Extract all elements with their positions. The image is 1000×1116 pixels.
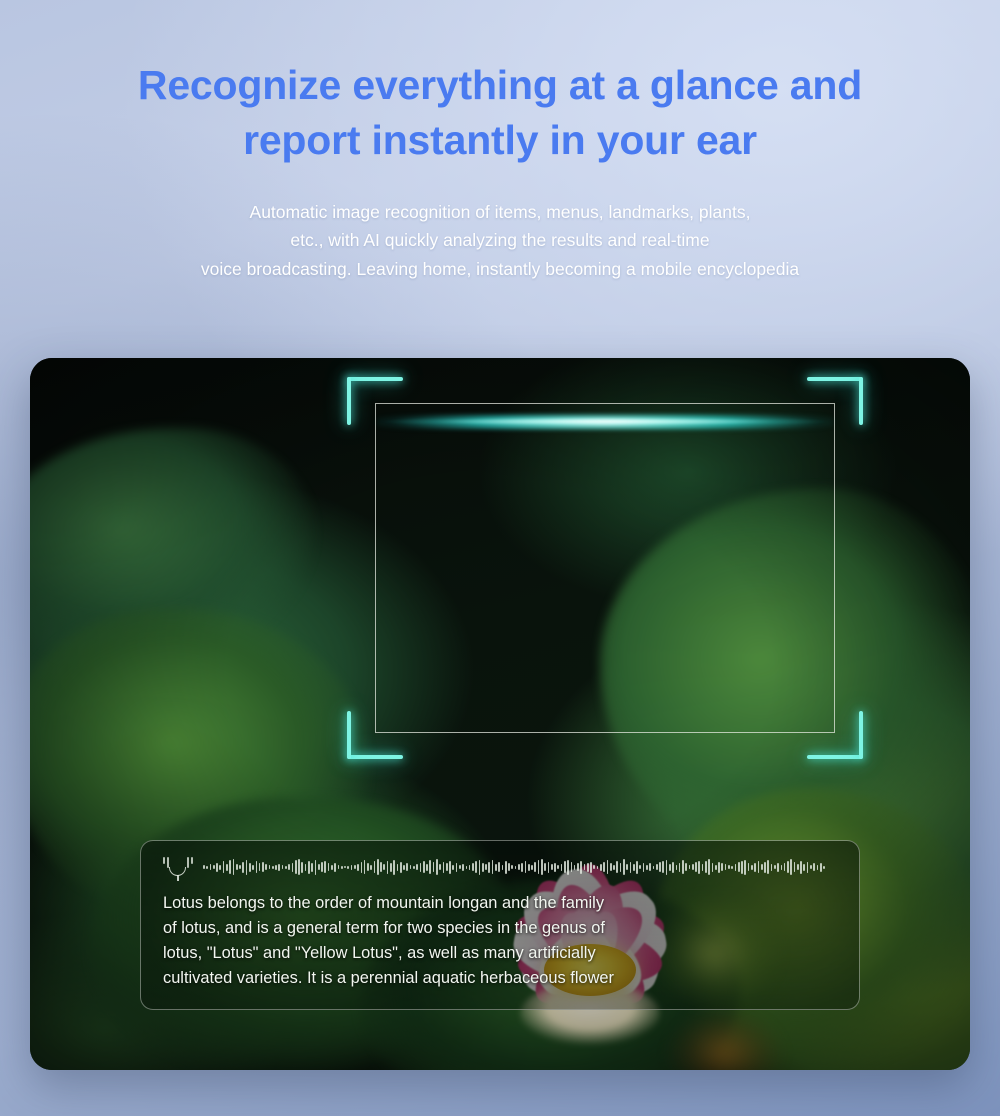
waveform-bar	[285, 866, 287, 869]
waveform-bar	[715, 865, 717, 870]
waveform-bar	[324, 861, 326, 873]
waveform-bar	[685, 863, 687, 871]
waveform-bar	[321, 862, 323, 872]
waveform-bar	[259, 863, 261, 871]
waveform-bar	[226, 864, 228, 871]
waveform-bar	[423, 861, 425, 873]
waveform-bar	[377, 859, 379, 875]
subtitle-line-3: voice broadcasting. Leaving home, instan…	[0, 255, 1000, 283]
waveform-bar	[331, 865, 333, 870]
waveform-bar	[679, 863, 681, 872]
waveform-bar	[288, 864, 290, 870]
waveform-bar	[383, 864, 385, 870]
waveform-bar	[347, 866, 349, 869]
waveform-bar	[669, 864, 671, 871]
scan-corner-bottom-right-icon	[807, 711, 863, 759]
headline-line-2: report instantly in your ear	[0, 113, 1000, 168]
waveform-bar	[803, 864, 805, 871]
waveform-bar	[807, 862, 809, 873]
waveform-bar	[659, 862, 661, 872]
waveform-bar	[744, 860, 746, 875]
waveform-bar	[495, 864, 497, 871]
microphone-icon	[163, 853, 193, 881]
waveform-bar	[587, 863, 589, 872]
waveform-bar	[456, 863, 458, 872]
waveform-bar	[695, 862, 697, 872]
waveform-bar	[344, 866, 346, 868]
waveform-bar	[301, 862, 303, 873]
waveform-bar	[400, 862, 402, 873]
waveform-bar	[810, 865, 812, 869]
waveform-bar	[475, 861, 477, 873]
waveform-bar	[738, 862, 740, 872]
waveform-bar	[758, 861, 760, 873]
waveform-bar	[794, 862, 796, 872]
waveform-bar	[580, 861, 582, 874]
scan-corner-top-left-icon	[347, 377, 403, 425]
waveform-bar	[718, 862, 720, 873]
waveform-bar	[626, 864, 628, 870]
waveform-bar	[682, 860, 684, 874]
waveform-bar	[774, 865, 776, 869]
waveform-bar	[403, 865, 405, 870]
waveform-bar	[643, 863, 645, 872]
waveform-bar	[469, 865, 471, 870]
waveform-bar	[784, 863, 786, 871]
waveform-bar	[420, 863, 422, 872]
recognition-preview-card: Lotus belongs to the order of mountain l…	[30, 358, 970, 1070]
waveform-bar	[616, 861, 618, 873]
waveform-bar	[820, 863, 822, 872]
waveform-bar	[433, 862, 435, 872]
subtitle-line-1: Automatic image recognition of items, me…	[0, 198, 1000, 226]
waveform-bar	[639, 865, 641, 869]
waveform-bar	[233, 859, 235, 875]
waveform-bar	[223, 861, 225, 873]
waveform-bar	[315, 860, 317, 875]
voice-activity-row	[163, 852, 841, 882]
page-title: Recognize everything at a glance and rep…	[0, 58, 1000, 167]
waveform-bar	[206, 866, 208, 869]
waveform-bar	[367, 863, 369, 871]
waveform-bar	[236, 864, 238, 870]
waveform-bar	[508, 863, 510, 871]
waveform-bar	[436, 859, 438, 875]
recognition-caption: Lotus belongs to the order of mountain l…	[163, 891, 841, 991]
waveform-bar	[676, 865, 678, 870]
waveform-bar	[662, 861, 664, 873]
waveform-bar	[318, 864, 320, 870]
waveform-bar	[242, 862, 244, 873]
waveform-bar	[754, 863, 756, 872]
waveform-bar	[416, 864, 418, 870]
waveform-bar	[252, 865, 254, 870]
headline-line-1: Recognize everything at a glance and	[138, 62, 862, 108]
waveform-bar	[666, 860, 668, 875]
waveform-bar	[239, 865, 241, 869]
waveform-bar	[653, 866, 655, 869]
waveform-bar	[692, 864, 694, 870]
waveform-bar	[505, 861, 507, 874]
waveform-bar	[751, 865, 753, 870]
waveform-bar	[574, 865, 576, 870]
waveform-bar	[541, 859, 543, 875]
waveform-bar	[482, 863, 484, 872]
audio-waveform	[203, 854, 841, 880]
waveform-bar	[630, 862, 632, 873]
scan-corner-top-right-icon	[807, 377, 863, 425]
waveform-bar	[564, 861, 566, 873]
waveform-bar	[518, 864, 520, 870]
waveform-bar	[429, 860, 431, 874]
scan-line-core	[377, 419, 833, 424]
waveform-bar	[725, 864, 727, 870]
waveform-bar	[262, 862, 264, 872]
waveform-bar	[712, 863, 714, 872]
waveform-bar	[459, 865, 461, 869]
waveform-bar	[462, 864, 464, 871]
waveform-bar	[488, 862, 490, 873]
scan-frame-rect	[375, 403, 835, 733]
waveform-bar	[472, 863, 474, 871]
waveform-bar	[705, 861, 707, 873]
waveform-bar	[708, 859, 710, 875]
waveform-bar	[203, 865, 205, 869]
page-subtitle: Automatic image recognition of items, me…	[0, 198, 1000, 283]
waveform-bar	[426, 864, 428, 871]
waveform-bar	[748, 863, 750, 871]
waveform-bar	[443, 862, 445, 873]
mic-sound-line-icon	[191, 857, 193, 864]
waveform-bar	[502, 865, 504, 870]
waveform-bar	[311, 863, 313, 872]
waveform-bar	[361, 862, 363, 873]
subtitle-line-2: etc., with AI quickly analyzing the resu…	[0, 226, 1000, 254]
waveform-bar	[364, 860, 366, 874]
waveform-bar	[249, 863, 251, 872]
scan-corner-bottom-left-icon	[347, 711, 403, 759]
scan-frame-overlay	[375, 403, 835, 733]
waveform-bar	[790, 859, 792, 875]
waveform-bar	[613, 865, 615, 870]
waveform-bar	[649, 863, 651, 871]
waveform-bar	[646, 865, 648, 870]
caption-line-3: lotus, "Lotus" and "Yellow Lotus", as we…	[163, 941, 841, 966]
waveform-bar	[544, 863, 546, 871]
waveform-bar	[265, 864, 267, 870]
waveform-bar	[741, 861, 743, 874]
waveform-bar	[446, 863, 448, 871]
waveform-bar	[511, 865, 513, 869]
waveform-bar	[439, 864, 441, 870]
waveform-bar	[813, 863, 815, 871]
waveform-bar	[771, 864, 773, 871]
waveform-bar	[633, 864, 635, 871]
waveform-bar	[525, 861, 527, 873]
waveform-bar	[781, 865, 783, 870]
waveform-bar	[721, 863, 723, 871]
hero-section: Recognize everything at a glance and rep…	[0, 0, 1000, 283]
waveform-bar	[567, 860, 569, 875]
waveform-bar	[278, 864, 280, 871]
waveform-bar	[672, 862, 674, 873]
waveform-bar	[413, 866, 415, 869]
waveform-bar	[305, 864, 307, 871]
waveform-bar	[764, 862, 766, 873]
waveform-bar	[380, 862, 382, 872]
waveform-bar	[538, 860, 540, 874]
waveform-bar	[341, 866, 343, 869]
waveform-bar	[590, 862, 592, 873]
waveform-bar	[328, 863, 330, 871]
waveform-bar	[554, 863, 556, 872]
waveform-bar	[374, 861, 376, 873]
waveform-bar	[246, 860, 248, 875]
caption-line-4: cultivated varieties. It is a perennial …	[163, 966, 841, 991]
waveform-bar	[485, 864, 487, 870]
waveform-bar	[216, 863, 218, 872]
waveform-bar	[229, 860, 231, 874]
waveform-bar	[397, 864, 399, 871]
waveform-bar	[689, 865, 691, 869]
waveform-bar	[338, 865, 340, 869]
mic-sound-line-icon	[163, 857, 165, 864]
waveform-bar	[357, 864, 359, 871]
waveform-bar	[272, 866, 274, 869]
waveform-bar	[492, 860, 494, 874]
waveform-bar	[735, 864, 737, 871]
waveform-bar	[603, 862, 605, 872]
waveform-bar	[354, 865, 356, 869]
waveform-bar	[787, 861, 789, 873]
waveform-bar	[370, 865, 372, 870]
waveform-bar	[292, 863, 294, 872]
waveform-bar	[452, 865, 454, 870]
waveform-bar	[531, 865, 533, 870]
waveform-bar	[561, 864, 563, 871]
waveform-bar	[390, 863, 392, 872]
waveform-bar	[308, 861, 310, 874]
waveform-bar	[571, 862, 573, 872]
waveform-bar	[636, 861, 638, 874]
waveform-bar	[466, 866, 468, 869]
waveform-bar	[410, 865, 412, 869]
waveform-bar	[817, 865, 819, 870]
waveform-bar	[607, 860, 609, 874]
waveform-bar	[600, 864, 602, 871]
voice-result-panel: Lotus belongs to the order of mountain l…	[140, 840, 860, 1010]
waveform-bar	[282, 865, 284, 869]
waveform-bar	[210, 864, 212, 870]
waveform-bar	[449, 861, 451, 874]
waveform-bar	[498, 862, 500, 872]
waveform-bar	[698, 861, 700, 874]
waveform-bar	[584, 864, 586, 870]
waveform-bar	[393, 860, 395, 875]
waveform-bar	[728, 865, 730, 869]
waveform-bar	[551, 864, 553, 870]
waveform-bar	[387, 861, 389, 874]
waveform-bar	[761, 864, 763, 870]
waveform-bar	[767, 860, 769, 874]
caption-line-2: of lotus, and is a general term for two …	[163, 916, 841, 941]
mic-sound-line-icon	[187, 857, 189, 868]
waveform-bar	[269, 865, 271, 869]
waveform-bar	[534, 862, 536, 872]
waveform-bar	[656, 864, 658, 870]
waveform-bar	[351, 865, 353, 870]
waveform-bar	[610, 863, 612, 871]
waveform-bar	[577, 863, 579, 871]
waveform-bar	[521, 863, 523, 872]
waveform-bar	[557, 865, 559, 869]
waveform-bar	[823, 866, 825, 869]
waveform-bar	[797, 864, 799, 870]
waveform-bar	[406, 863, 408, 871]
waveform-bar	[731, 866, 733, 869]
waveform-bar	[777, 863, 779, 872]
waveform-bar	[800, 861, 802, 874]
waveform-bar	[528, 864, 530, 871]
waveform-bar	[256, 861, 258, 873]
waveform-bar	[219, 865, 221, 870]
waveform-bar	[548, 862, 550, 873]
waveform-bar	[213, 865, 215, 869]
waveform-bar	[298, 859, 300, 875]
waveform-bar	[702, 864, 704, 871]
waveform-bar	[334, 863, 336, 872]
waveform-bar	[479, 860, 481, 875]
waveform-bar	[623, 859, 625, 875]
waveform-bar	[275, 865, 277, 870]
waveform-bar	[295, 860, 297, 874]
waveform-bar	[620, 863, 622, 872]
caption-line-1: Lotus belongs to the order of mountain l…	[163, 891, 841, 916]
waveform-bar	[515, 866, 517, 869]
waveform-bar	[593, 865, 595, 869]
waveform-bar	[597, 866, 599, 869]
